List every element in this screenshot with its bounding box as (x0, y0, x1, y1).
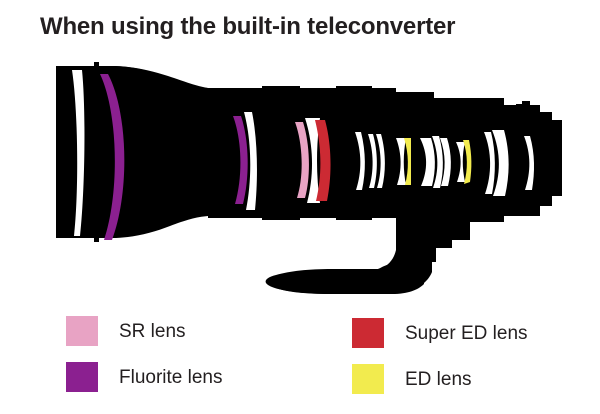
legend-label-sr-lens: SR lens (119, 322, 186, 341)
legend-item-fluorite-lens: Fluorite lens (66, 354, 223, 400)
lens-body-sections (56, 62, 562, 294)
legend-label-super-ed-lens: Super ED lens (405, 324, 528, 343)
legend-label-ed-lens: ED lens (405, 370, 472, 389)
mount-flange (540, 112, 562, 204)
legend-right: Super ED lens ED lens (352, 310, 528, 402)
tripod-foot (266, 248, 432, 294)
legend-item-super-ed-lens: Super ED lens (352, 310, 528, 356)
super-ed-lens-swatch (352, 318, 384, 348)
legend-label-fluorite-lens: Fluorite lens (119, 368, 223, 387)
legend-item-sr-lens: SR lens (66, 308, 223, 354)
lens-body-group (56, 62, 562, 294)
legend-item-ed-lens: ED lens (352, 356, 528, 402)
fluorite-lens-swatch (66, 362, 98, 392)
sr-lens-swatch (66, 316, 98, 346)
ed-lens-swatch (352, 364, 384, 394)
legend-left: SR lens Fluorite lens (66, 308, 223, 400)
lens-diagram-figure: When using the built-in teleconverter (0, 0, 600, 414)
